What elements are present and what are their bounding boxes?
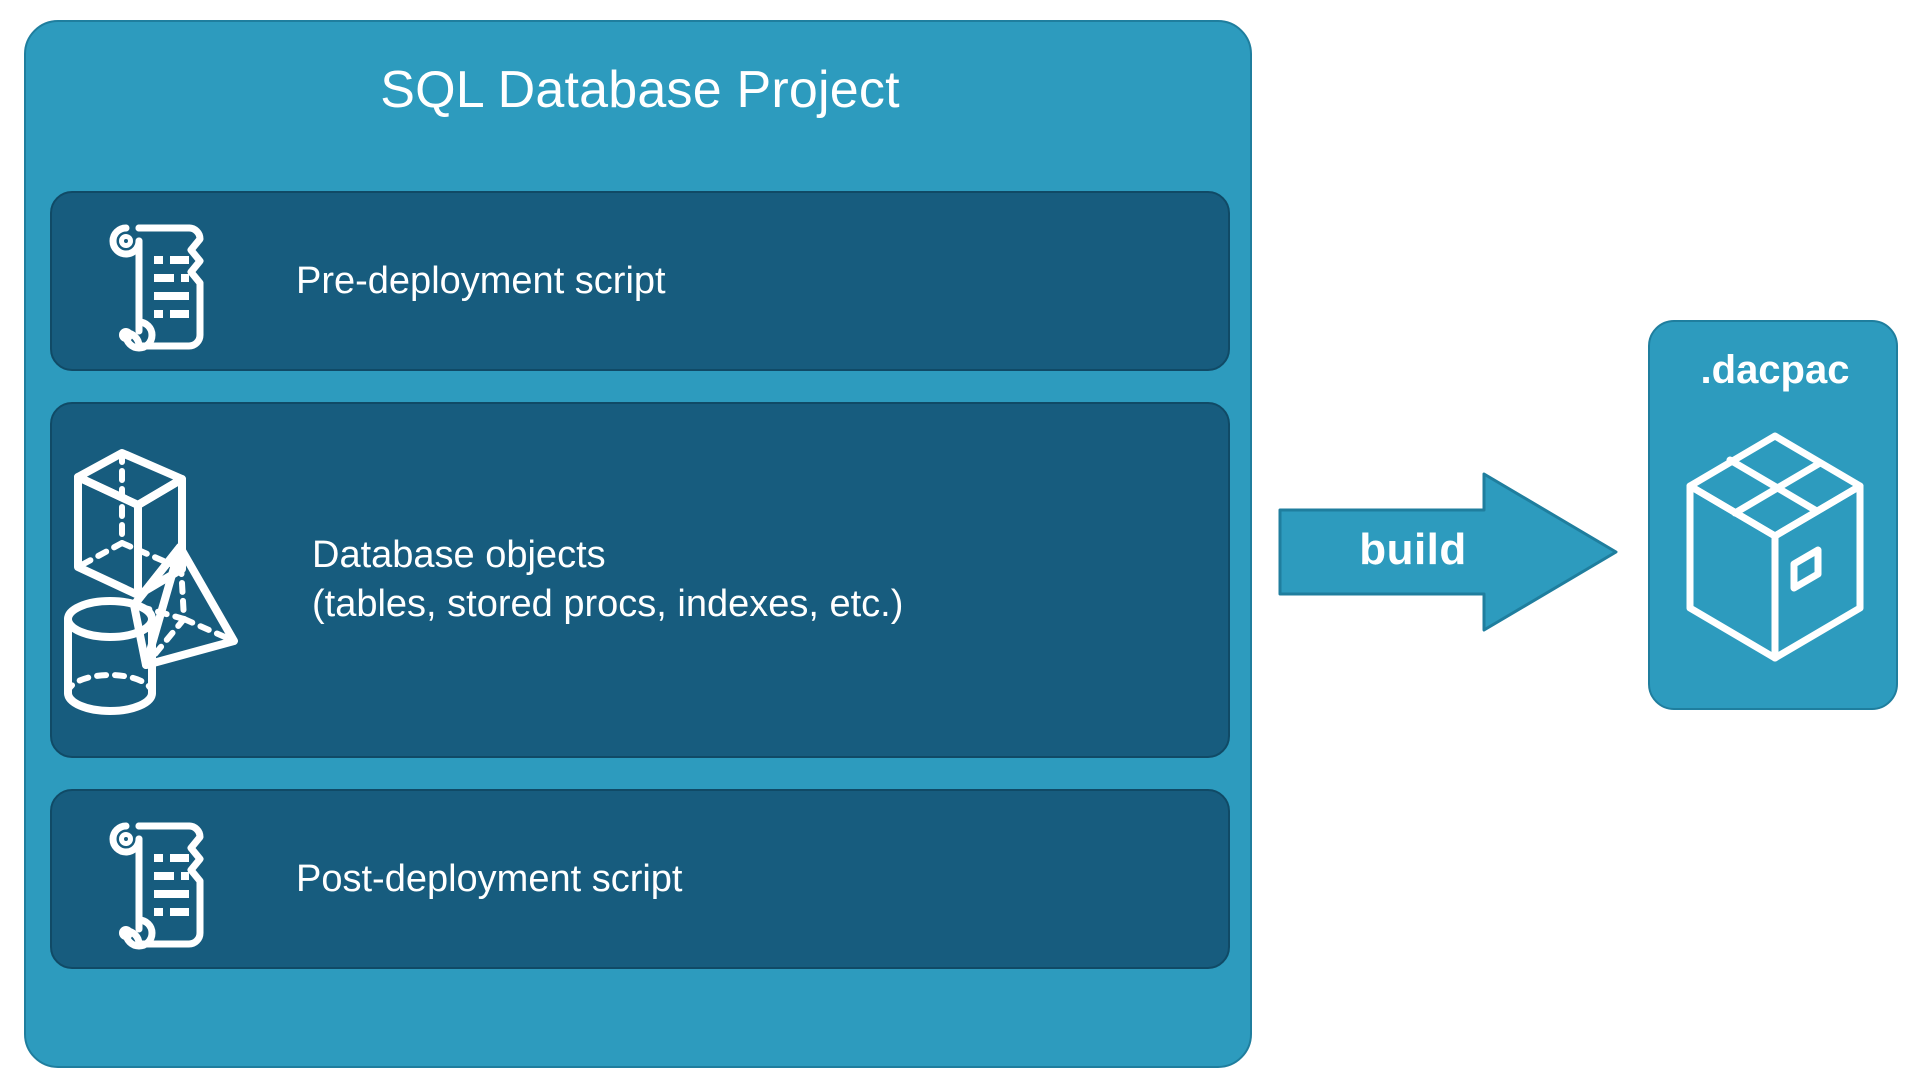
cube-icon <box>78 453 182 595</box>
panel-pre-deployment[interactable]: Pre-deployment script <box>50 191 1230 371</box>
three-d-shapes-icon <box>70 440 250 720</box>
panel-database-objects[interactable]: Database objects (tables, stored procs, … <box>50 402 1230 758</box>
panel-post-deployment[interactable]: Post-deployment script <box>50 789 1230 969</box>
panel-post-deployment-label: Post-deployment script <box>296 855 683 904</box>
build-arrow <box>1278 472 1618 632</box>
dacpac-output-card[interactable]: .dacpac <box>1648 320 1898 710</box>
panel-pre-deployment-label: Pre-deployment script <box>296 257 666 306</box>
package-box-icon <box>1682 412 1868 682</box>
right-arrow-icon <box>1280 474 1616 630</box>
scroll-icon <box>70 804 250 954</box>
diagram-canvas: SQL Database Project <box>0 0 1920 1080</box>
dacpac-title: .dacpac <box>1650 348 1900 393</box>
scroll-icon <box>70 206 250 356</box>
project-title: SQL Database Project <box>26 60 1254 120</box>
panel-database-objects-label: Database objects (tables, stored procs, … <box>312 531 903 628</box>
sql-database-project-container: SQL Database Project <box>24 20 1252 1068</box>
